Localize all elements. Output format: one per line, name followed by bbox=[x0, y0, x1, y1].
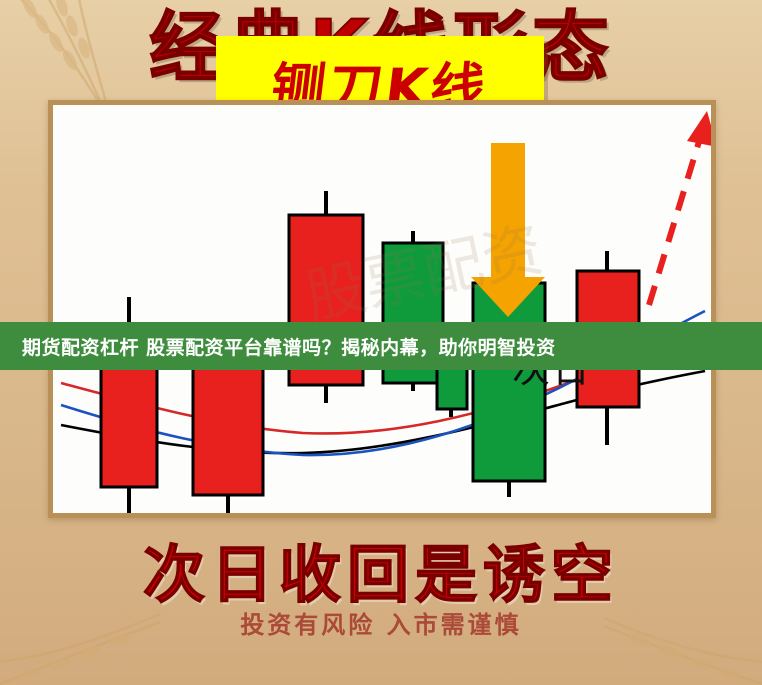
poster-bottom-headline: 次日收回是诱空 bbox=[0, 524, 762, 614]
poster-background: 经典K线形态 铡刀K线 bbox=[0, 0, 762, 685]
article-title: 期货配资杠杆 股票配资平台靠谱吗？揭秘内幕，助你明智投资 bbox=[0, 333, 556, 360]
dashed-red-up-arrow-icon bbox=[649, 111, 711, 305]
article-title-bar: 期货配资杠杆 股票配资平台靠谱吗？揭秘内幕，助你明智投资 bbox=[0, 322, 762, 370]
risk-disclaimer: 投资有风险 入市需谨慎 bbox=[0, 605, 762, 640]
chart-canvas bbox=[53, 105, 711, 513]
candle-3 bbox=[289, 191, 363, 403]
candlestick-chart: 股票配资 bbox=[48, 100, 716, 518]
